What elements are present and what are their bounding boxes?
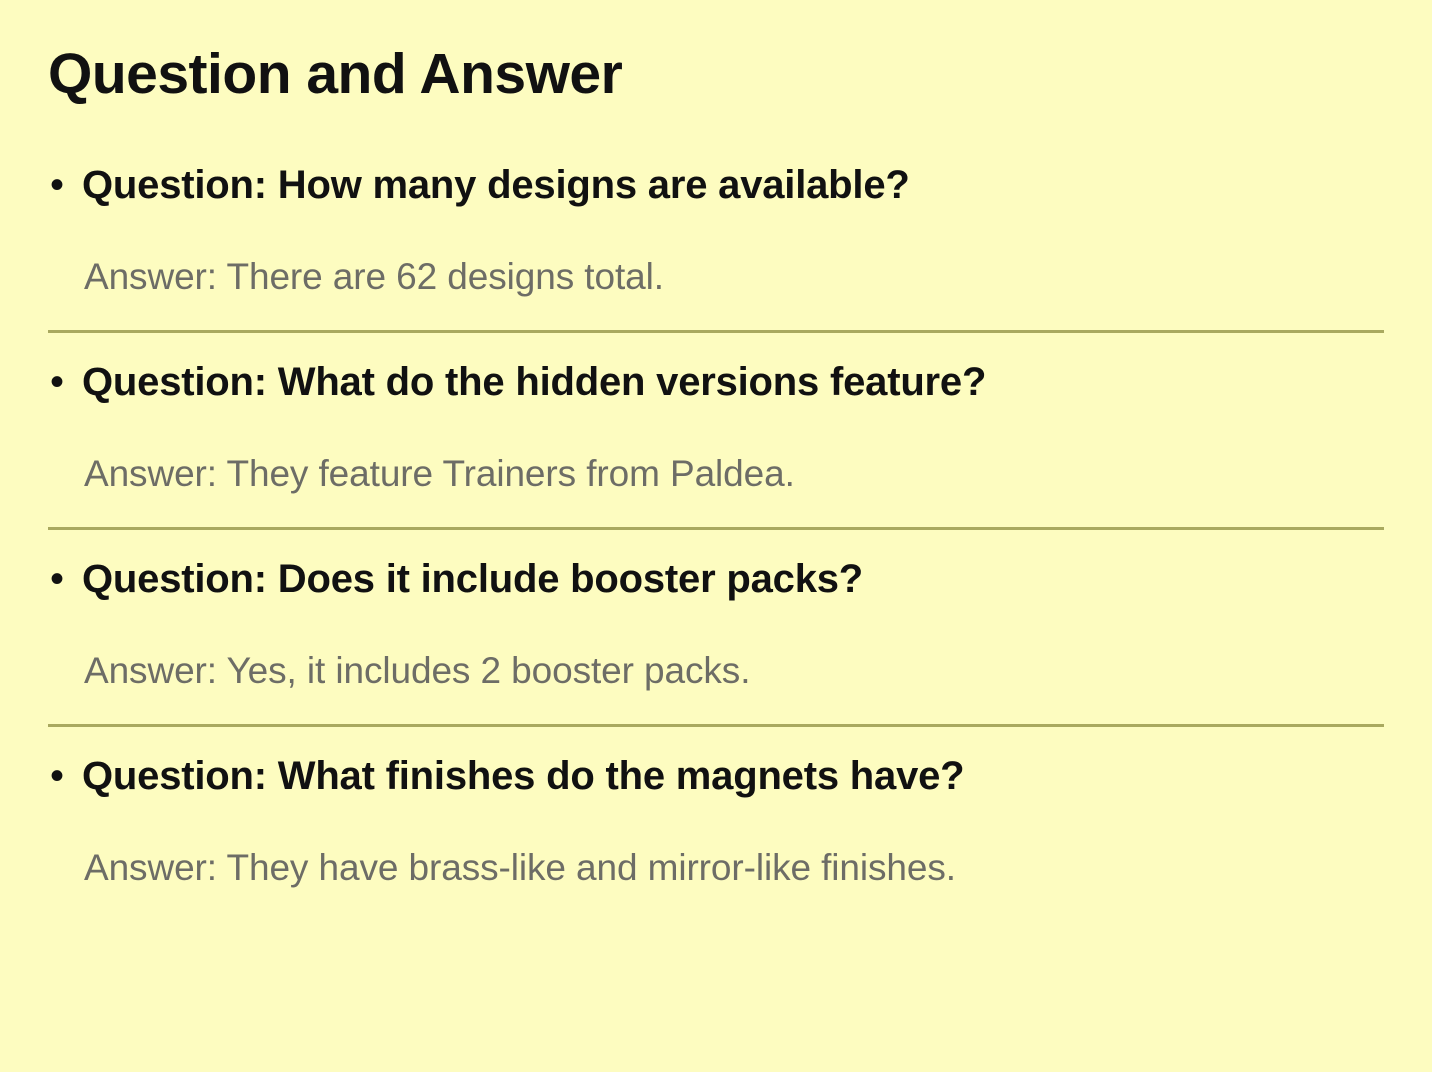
answer-text: Answer: They have brass-like and mirror-… [84, 846, 1384, 890]
qa-list: • Question: How many designs are availab… [48, 162, 1384, 890]
question-text: Question: What finishes do the magnets h… [82, 753, 1384, 799]
question-row: • Question: What do the hidden versions … [48, 359, 1384, 405]
question-row: • Question: How many designs are availab… [48, 162, 1384, 208]
bullet-icon: • [48, 162, 82, 208]
qa-item: • Question: What finishes do the magnets… [48, 724, 1384, 890]
qa-item: • Question: How many designs are availab… [48, 162, 1384, 299]
qa-page: Question and Answer • Question: How many… [0, 0, 1432, 1072]
question-text: Question: How many designs are available… [82, 162, 1384, 208]
question-text: Question: Does it include booster packs? [82, 556, 1384, 602]
bullet-icon: • [48, 753, 82, 799]
qa-item: • Question: What do the hidden versions … [48, 330, 1384, 496]
page-title: Question and Answer [48, 0, 1384, 106]
answer-text: Answer: Yes, it includes 2 booster packs… [84, 649, 1384, 693]
answer-text: Answer: They feature Trainers from Palde… [84, 452, 1384, 496]
question-row: • Question: Does it include booster pack… [48, 556, 1384, 602]
question-row: • Question: What finishes do the magnets… [48, 753, 1384, 799]
bullet-icon: • [48, 359, 82, 405]
bullet-icon: • [48, 556, 82, 602]
qa-item: • Question: Does it include booster pack… [48, 527, 1384, 693]
question-text: Question: What do the hidden versions fe… [82, 359, 1384, 405]
answer-text: Answer: There are 62 designs total. [84, 255, 1384, 299]
